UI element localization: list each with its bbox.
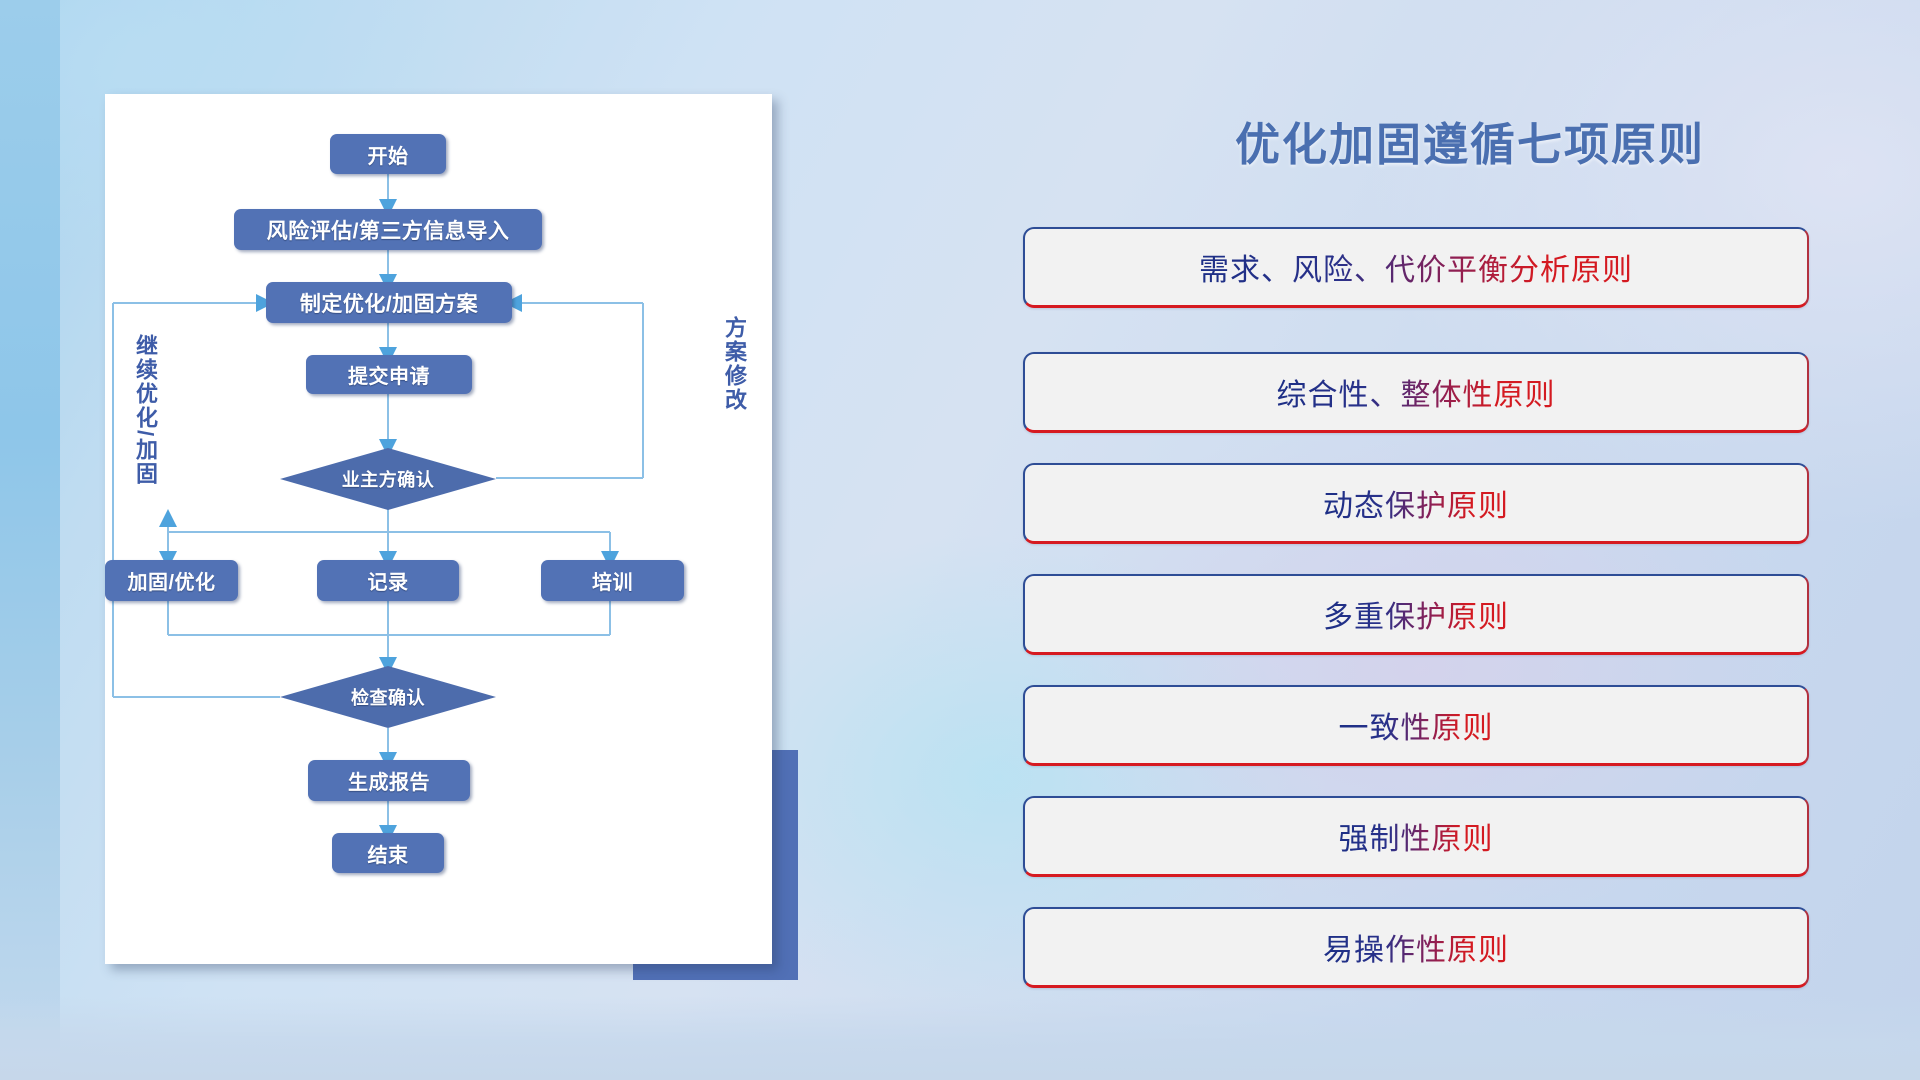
flow-node-reinforce-optimize[interactable]: 加固/优化 xyxy=(105,560,238,601)
flow-node-risk-assessment[interactable]: 风险评估/第三方信息导入 xyxy=(234,209,542,250)
flow-node-generate-report[interactable]: 生成报告 xyxy=(308,760,470,801)
principle-item-1[interactable]: 需求、风险、代价平衡分析原则 xyxy=(1023,227,1809,308)
flow-node-check-confirm[interactable]: 检查确认 xyxy=(280,666,496,728)
flow-node-make-plan[interactable]: 制定优化/加固方案 xyxy=(266,282,512,323)
principle-item-2-label: 综合性、整体性原则 xyxy=(1277,370,1556,414)
principle-item-3-label: 动态保护原则 xyxy=(1323,481,1509,525)
principle-item-6-label: 强制性原则 xyxy=(1339,814,1494,858)
flow-node-end[interactable]: 结束 xyxy=(332,833,444,873)
background-left-band xyxy=(0,0,60,1080)
principle-item-2[interactable]: 综合性、整体性原则 xyxy=(1023,352,1809,433)
flow-node-check-confirm-label: 检查确认 xyxy=(280,666,496,728)
principle-item-4[interactable]: 多重保护原则 xyxy=(1023,574,1809,655)
flow-node-training[interactable]: 培训 xyxy=(541,560,684,601)
principle-item-3[interactable]: 动态保护原则 xyxy=(1023,463,1809,544)
principle-item-1-label: 需求、风险、代价平衡分析原则 xyxy=(1199,245,1633,289)
principle-item-7-label: 易操作性原则 xyxy=(1323,925,1509,969)
flow-node-owner-confirm[interactable]: 业主方确认 xyxy=(280,448,496,510)
edge-label-plan-revision: 方案修改 xyxy=(718,316,750,412)
principle-item-5-label: 一致性原则 xyxy=(1339,703,1494,747)
flow-node-owner-confirm-label: 业主方确认 xyxy=(280,448,496,510)
flow-node-record[interactable]: 记录 xyxy=(317,560,459,601)
principles-title: 优化加固遵循七项原则 xyxy=(1020,108,1920,173)
principle-item-5[interactable]: 一致性原则 xyxy=(1023,685,1809,766)
flow-node-start[interactable]: 开始 xyxy=(330,134,446,174)
flowchart-card: 继续优化/加固 方案修改 开始 风险评估/第三方信息导入 制定优化/加固方案 提… xyxy=(105,94,772,964)
principle-item-6[interactable]: 强制性原则 xyxy=(1023,796,1809,877)
principles-panel: 优化加固遵循七项原则 需求、风险、代价平衡分析原则 综合性、整体性原则 动态保护… xyxy=(1020,0,1920,1080)
flow-node-submit-application[interactable]: 提交申请 xyxy=(306,355,472,394)
principle-item-4-label: 多重保护原则 xyxy=(1323,592,1509,636)
edge-label-continue-optimize: 继续优化/加固 xyxy=(129,334,161,486)
principle-item-7[interactable]: 易操作性原则 xyxy=(1023,907,1809,988)
